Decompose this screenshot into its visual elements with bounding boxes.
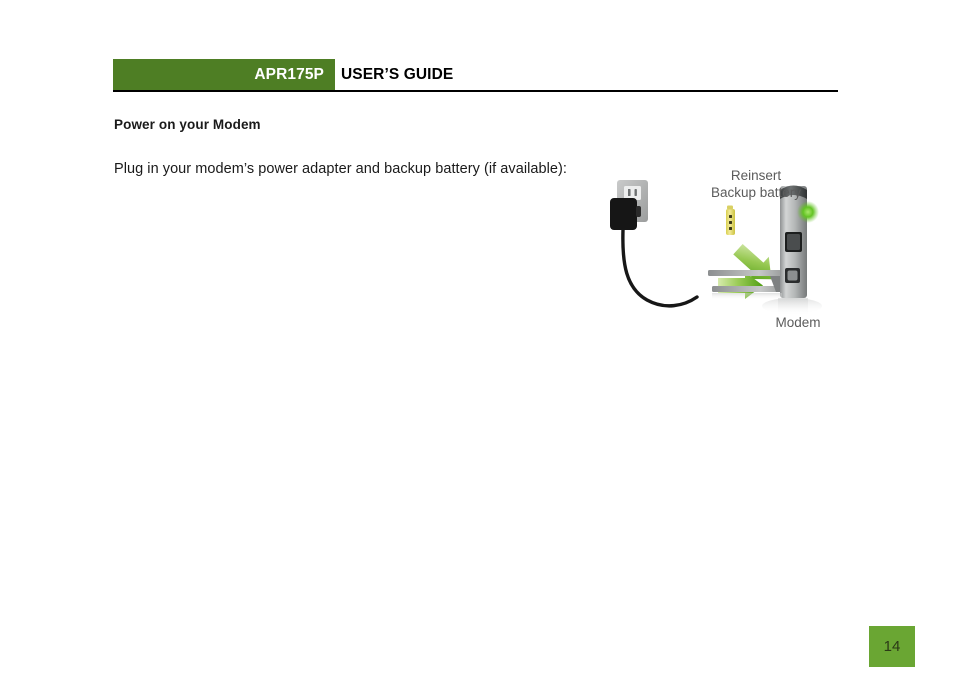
header-model-label: APR175P — [113, 59, 335, 90]
status-led — [797, 201, 819, 223]
header-divider-rule — [113, 90, 838, 92]
modem-power-illustration: Reinsert Backup battery Modem — [600, 160, 855, 345]
power-adapter — [610, 198, 641, 230]
figure-label-modem: Modem — [753, 315, 843, 330]
modem-device — [780, 186, 819, 299]
backup-battery — [726, 206, 735, 236]
intro-paragraph: Plug in your modem’s power adapter and b… — [114, 161, 567, 177]
page-title: USER’S GUIDE — [341, 59, 453, 90]
page-header: APR175P USER’S GUIDE — [113, 59, 838, 92]
page-number-box: 14 — [869, 626, 915, 667]
figure-label-reinsert: Reinsert — [696, 168, 816, 183]
figure-label-backup-battery: Backup battery — [670, 185, 842, 200]
power-cord — [623, 230, 697, 306]
section-heading: Power on your Modem — [114, 117, 261, 132]
page-number-value: 14 — [869, 626, 915, 667]
